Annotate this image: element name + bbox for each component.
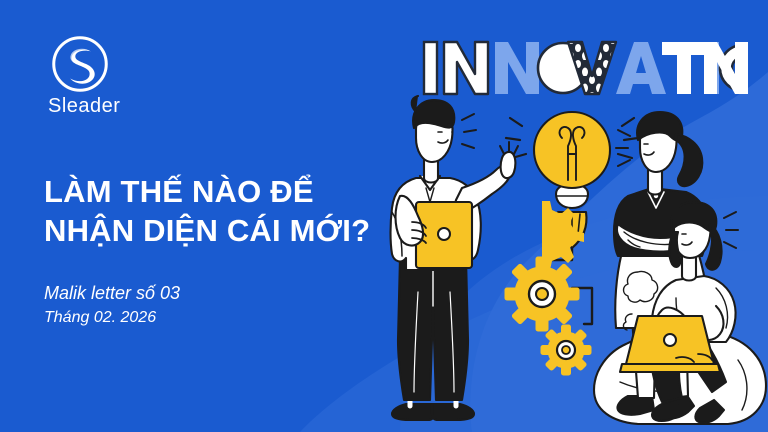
wordmark-letter-i1 — [424, 42, 437, 94]
wordmark-letter-a — [616, 42, 666, 94]
headline-line-2: NHẬN DIỆN CÁI MỚI? — [44, 212, 404, 251]
standing-man-with-tablet-figure — [391, 96, 519, 420]
brand-name: Sleader — [48, 95, 140, 118]
brand-logo: Sleader — [44, 34, 140, 118]
page-title: LÀM THẾ NÀO ĐỂ NHẬN DIỆN CÁI MỚI? — [44, 173, 404, 251]
sleader-circle-s-logo-icon — [50, 34, 110, 94]
innovation-wordmark — [420, 28, 745, 100]
wordmark-letter-n2 — [495, 42, 539, 94]
subtitle-line-1: Malik letter số 03 — [44, 280, 180, 306]
wordmark-letter-n3 — [700, 28, 764, 100]
headline-line-1: LÀM THẾ NÀO ĐỂ — [44, 173, 404, 212]
wordmark-letter-n1 — [444, 42, 488, 94]
subtitle-line-2: Tháng 02. 2026 — [44, 306, 180, 329]
subtitle-block: Malik letter số 03 Tháng 02. 2026 — [44, 280, 180, 329]
slide-canvas: Sleader — [0, 0, 768, 432]
innovation-team-illustration — [376, 92, 768, 432]
